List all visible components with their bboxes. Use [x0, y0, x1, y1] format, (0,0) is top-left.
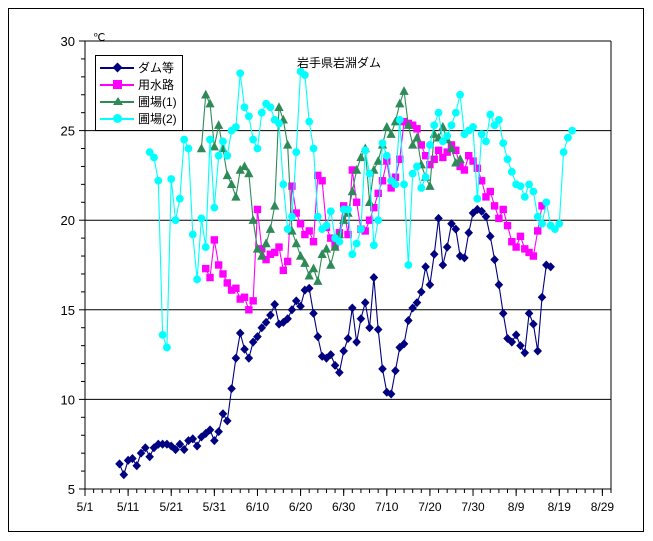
data-point — [211, 437, 218, 445]
data-point — [474, 195, 481, 202]
legend-item-1: ダム等 — [100, 59, 177, 76]
data-point — [353, 240, 360, 247]
data-point — [267, 225, 275, 232]
y-tick-label: 15 — [61, 303, 75, 318]
data-point — [392, 367, 399, 375]
data-point — [513, 331, 520, 339]
data-point — [564, 134, 571, 141]
data-point — [491, 256, 498, 264]
legend-marker-circle-icon — [113, 114, 122, 123]
data-point — [357, 315, 364, 323]
data-point — [508, 168, 515, 175]
legend-swatch — [100, 101, 134, 103]
data-point — [375, 190, 381, 196]
y-tick-label: 5 — [68, 482, 75, 497]
x-tick-label: 6/10 — [246, 500, 270, 514]
data-point — [496, 215, 502, 221]
data-point — [521, 194, 528, 201]
data-point — [478, 131, 485, 138]
data-point — [414, 126, 420, 132]
data-point — [366, 324, 373, 332]
data-point — [422, 174, 429, 181]
data-point — [323, 222, 330, 229]
data-point — [262, 239, 270, 246]
data-point — [185, 145, 192, 152]
data-point — [444, 133, 451, 140]
data-point — [297, 252, 305, 259]
data-point — [517, 183, 524, 190]
data-point — [284, 258, 290, 264]
data-point — [478, 178, 484, 184]
data-point — [569, 127, 576, 134]
data-point — [241, 345, 248, 353]
data-point — [358, 226, 365, 233]
data-point — [215, 428, 222, 436]
data-point — [344, 335, 351, 343]
data-point — [241, 294, 247, 300]
data-point — [237, 70, 244, 77]
data-point — [336, 369, 343, 377]
data-point — [215, 121, 223, 128]
data-point — [349, 251, 356, 258]
data-point — [431, 250, 438, 258]
data-point — [172, 217, 179, 224]
data-point — [202, 244, 209, 251]
x-tick-label: 8/19 — [548, 500, 572, 514]
data-point — [194, 276, 201, 283]
data-point — [439, 261, 446, 269]
x-tick-label: 8/29 — [591, 500, 615, 514]
data-point — [491, 203, 497, 209]
data-point — [556, 220, 563, 227]
data-point — [289, 213, 296, 220]
data-point — [284, 226, 291, 233]
data-point — [504, 222, 510, 228]
data-point — [250, 298, 256, 304]
x-tick-label: 5/11 — [117, 500, 140, 514]
legend-swatch — [100, 67, 134, 69]
data-point — [401, 181, 408, 188]
data-point — [396, 116, 403, 123]
x-tick-label: 7/20 — [418, 500, 442, 514]
data-point — [193, 442, 200, 450]
data-point — [310, 239, 316, 245]
legend-swatch — [100, 84, 134, 86]
data-point — [535, 228, 541, 234]
data-point — [233, 124, 240, 131]
data-point — [530, 320, 537, 328]
data-point — [254, 145, 261, 152]
data-point — [305, 272, 313, 279]
data-point — [133, 462, 140, 470]
data-point — [245, 113, 252, 120]
data-point — [220, 138, 227, 145]
data-point — [275, 103, 283, 110]
data-point — [276, 120, 283, 127]
data-point — [353, 338, 360, 346]
data-point — [487, 233, 494, 241]
data-point — [487, 111, 494, 118]
y-tick-label: 25 — [61, 124, 75, 139]
data-point — [215, 262, 221, 268]
data-point — [207, 136, 214, 143]
data-point — [267, 311, 274, 319]
data-point — [400, 87, 408, 94]
data-point — [427, 142, 434, 149]
data-point — [310, 145, 317, 152]
data-point — [539, 220, 546, 227]
legend-swatch — [100, 118, 134, 120]
data-point — [461, 167, 467, 173]
x-tick-label: 5/31 — [203, 500, 227, 514]
data-point — [271, 202, 279, 209]
x-tick-label: 7/10 — [375, 500, 399, 514]
data-point — [534, 347, 541, 355]
data-point — [387, 130, 395, 137]
x-tick-label: 5/1 — [77, 500, 94, 514]
data-point — [370, 274, 377, 282]
data-point — [418, 288, 425, 296]
legend-item-4: 圃場(2) — [100, 110, 177, 127]
data-point — [379, 365, 386, 373]
data-point — [487, 188, 493, 194]
data-point — [288, 306, 295, 314]
data-point — [233, 285, 239, 291]
data-point — [189, 231, 196, 238]
data-point — [146, 453, 153, 461]
data-point — [336, 238, 343, 245]
data-point — [392, 181, 399, 188]
data-point — [314, 333, 321, 341]
data-point — [250, 136, 257, 143]
x-tick-label: 7/30 — [461, 500, 485, 514]
data-point — [448, 122, 455, 129]
data-point — [224, 417, 231, 425]
data-point — [538, 293, 545, 301]
data-point — [525, 310, 532, 318]
x-tick-label: 5/21 — [160, 500, 184, 514]
data-point — [206, 100, 214, 107]
data-point — [500, 310, 507, 318]
data-point — [534, 213, 541, 220]
data-point — [301, 72, 308, 79]
data-point — [203, 265, 209, 271]
legend-marker-square-icon — [113, 80, 122, 89]
data-point — [159, 331, 166, 338]
data-point — [431, 122, 438, 129]
data-point — [526, 181, 533, 188]
data-point — [375, 217, 382, 224]
y-tick-label: 10 — [61, 392, 75, 407]
data-point — [396, 100, 404, 107]
data-point — [530, 253, 536, 259]
data-point — [241, 162, 249, 169]
data-point — [452, 109, 459, 116]
data-point — [228, 180, 236, 187]
data-point — [405, 317, 412, 325]
data-point — [405, 262, 412, 269]
data-point — [323, 245, 331, 252]
data-point — [496, 116, 503, 123]
data-point — [470, 124, 477, 131]
data-point — [314, 213, 321, 220]
data-point — [327, 208, 334, 215]
data-point — [276, 244, 282, 250]
data-point — [198, 145, 206, 152]
data-point — [306, 118, 313, 125]
data-point — [232, 193, 240, 200]
data-point — [246, 307, 252, 313]
data-point — [530, 188, 537, 195]
data-point — [245, 170, 253, 177]
data-point — [375, 326, 382, 334]
data-point — [379, 140, 386, 147]
data-point — [383, 123, 391, 130]
data-point — [366, 198, 374, 205]
data-point — [435, 215, 442, 223]
data-point — [176, 195, 183, 202]
legend-label: 圃場(1) — [138, 93, 177, 110]
data-point — [340, 347, 347, 355]
data-point — [543, 199, 550, 206]
data-point — [319, 178, 325, 184]
data-point — [155, 177, 162, 184]
data-point — [310, 265, 318, 272]
data-point — [271, 301, 278, 309]
data-point — [435, 147, 441, 153]
data-point — [220, 271, 226, 277]
data-point — [457, 91, 464, 98]
data-point — [245, 354, 252, 362]
data-point — [224, 152, 231, 159]
data-point — [168, 176, 175, 183]
data-point — [224, 280, 230, 286]
data-point — [418, 142, 424, 148]
data-point — [465, 229, 472, 237]
data-point — [435, 109, 442, 116]
data-point — [211, 143, 219, 150]
data-point — [293, 149, 300, 156]
data-point — [280, 181, 287, 188]
data-point — [495, 281, 502, 289]
data-point — [560, 149, 567, 156]
data-point — [116, 460, 123, 468]
data-point — [207, 274, 213, 280]
data-point — [362, 147, 369, 154]
data-point — [284, 141, 292, 148]
data-point — [517, 233, 523, 239]
x-tick-label: 6/20 — [289, 500, 313, 514]
data-point — [211, 237, 217, 243]
legend-item-2: 用水路 — [100, 76, 177, 93]
data-point — [280, 267, 286, 273]
data-point — [409, 170, 416, 177]
data-point — [331, 362, 338, 370]
data-point — [267, 104, 274, 111]
data-point — [314, 277, 322, 284]
data-point — [164, 344, 171, 351]
legend-label: 圃場(2) — [138, 110, 177, 127]
data-point — [349, 304, 356, 312]
data-point — [500, 140, 507, 147]
data-point — [517, 342, 524, 350]
data-point — [500, 206, 506, 212]
data-point — [513, 244, 519, 250]
data-point — [357, 153, 365, 160]
data-point — [228, 385, 235, 393]
legend-label: ダム等 — [138, 59, 174, 76]
data-point — [345, 206, 352, 213]
data-point — [292, 239, 300, 246]
data-point — [422, 263, 429, 271]
data-point — [306, 228, 312, 234]
data-point — [310, 310, 317, 318]
data-point — [444, 243, 451, 251]
data-point — [414, 163, 421, 170]
data-point — [426, 281, 433, 289]
data-point — [418, 185, 425, 192]
data-point — [327, 261, 335, 268]
data-point — [202, 91, 210, 98]
data-point — [120, 471, 127, 479]
data-point — [521, 349, 528, 357]
data-point — [362, 299, 369, 307]
data-point — [223, 171, 231, 178]
legend-marker-triangle-icon — [113, 97, 123, 105]
y-tick-label: 30 — [61, 34, 75, 49]
y-tick-label: 20 — [61, 213, 75, 228]
legend-item-3: 圃場(1) — [100, 93, 177, 110]
data-point — [198, 215, 205, 222]
data-point — [254, 206, 260, 212]
data-point — [409, 141, 417, 148]
legend-marker-diamond-icon — [113, 62, 123, 72]
data-point — [232, 354, 239, 362]
legend-label: 用水路 — [138, 76, 174, 93]
data-point — [353, 199, 359, 205]
data-point — [426, 182, 434, 189]
data-point — [215, 152, 222, 159]
data-point — [297, 221, 303, 227]
data-point — [370, 242, 377, 249]
data-point — [258, 109, 265, 116]
x-tick-label: 6/30 — [332, 500, 356, 514]
data-point — [241, 104, 248, 111]
data-point — [219, 410, 226, 418]
data-point — [483, 138, 490, 145]
data-point — [301, 259, 309, 266]
data-point — [181, 136, 188, 143]
x-tick-label: 8/9 — [508, 500, 525, 514]
data-point — [383, 152, 390, 159]
data-point — [237, 329, 244, 337]
data-point — [504, 156, 511, 163]
data-point — [211, 204, 218, 211]
data-point — [151, 154, 158, 161]
data-point — [366, 170, 373, 177]
chart-frame: ℃ 岩手県岩淵ダム 510152025305/15/115/215/316/10… — [8, 8, 644, 532]
chart-legend: ダム等用水路圃場(1)圃場(2) — [95, 55, 183, 131]
